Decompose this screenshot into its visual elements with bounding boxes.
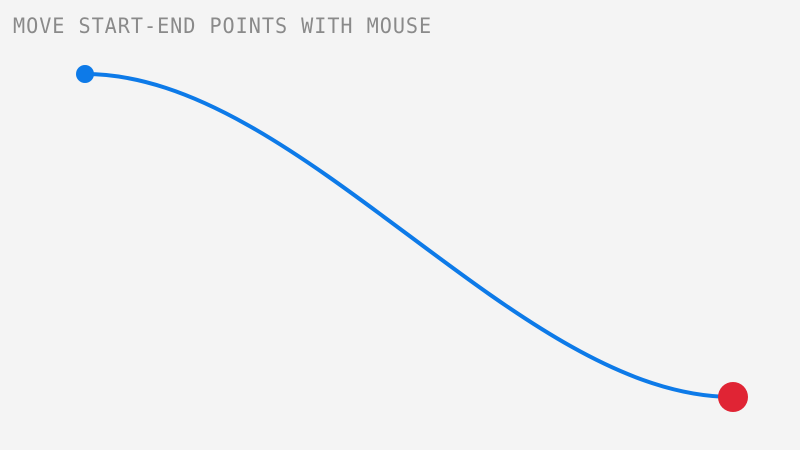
app-root: MOVE START-END POINTS WITH MOUSE — [0, 0, 800, 450]
end-point-handle[interactable] — [718, 382, 748, 412]
bezier-curve — [85, 74, 733, 397]
start-point-handle[interactable] — [76, 65, 94, 83]
bezier-canvas[interactable] — [0, 0, 800, 450]
